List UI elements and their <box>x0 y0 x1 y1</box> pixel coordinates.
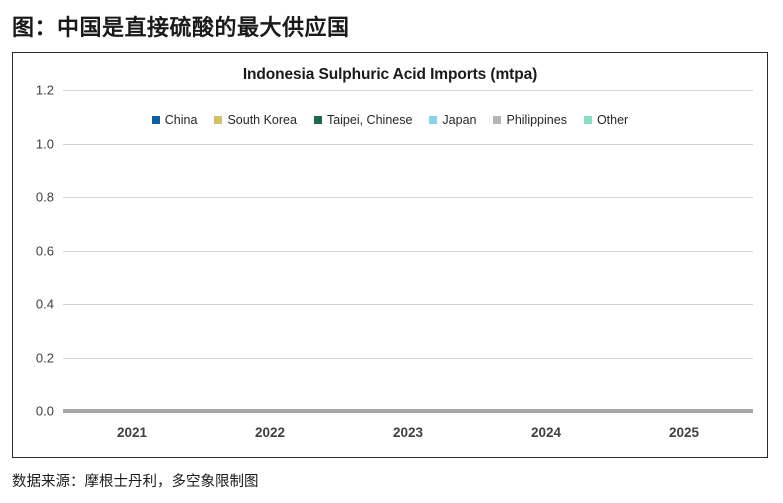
x-axis-tick-label: 2025 <box>669 425 699 440</box>
y-axis-tick-label: 0.2 <box>36 350 54 365</box>
x-axis-tick-label: 2021 <box>117 425 147 440</box>
x-axis-line <box>63 409 753 411</box>
bar-column[interactable]: 2023 <box>346 90 470 411</box>
source-note: 数据来源：摩根士丹利，多空象限制图 <box>12 470 259 491</box>
bar-column[interactable]: 2021 <box>70 90 194 411</box>
gridline <box>63 411 753 413</box>
bar-column[interactable]: 2022 <box>208 90 332 411</box>
y-axis-tick-label: 0.8 <box>36 190 54 205</box>
bar-group: 20212022202320242025 <box>63 90 753 411</box>
page-headline: 图：中国是直接硫酸的最大供应国 <box>12 10 350 42</box>
chart-title: Indonesia Sulphuric Acid Imports (mtpa) <box>13 66 767 84</box>
y-axis-tick-label: 0.4 <box>36 297 54 312</box>
chart-panel: Indonesia Sulphuric Acid Imports (mtpa) … <box>12 52 768 458</box>
plot-area: 0.00.20.40.60.81.01.2 202120222023202420… <box>63 90 753 411</box>
y-axis-tick-label: 0.6 <box>36 243 54 258</box>
bar-column[interactable]: 2024 <box>484 90 608 411</box>
x-axis-tick-label: 2022 <box>255 425 285 440</box>
y-axis-tick-label: 0.0 <box>36 404 54 419</box>
y-axis-tick-label: 1.2 <box>36 83 54 98</box>
x-axis-tick-label: 2023 <box>393 425 423 440</box>
x-axis-tick-label: 2024 <box>531 425 561 440</box>
y-axis-tick-label: 1.0 <box>36 136 54 151</box>
bar-column[interactable]: 2025 <box>622 90 746 411</box>
